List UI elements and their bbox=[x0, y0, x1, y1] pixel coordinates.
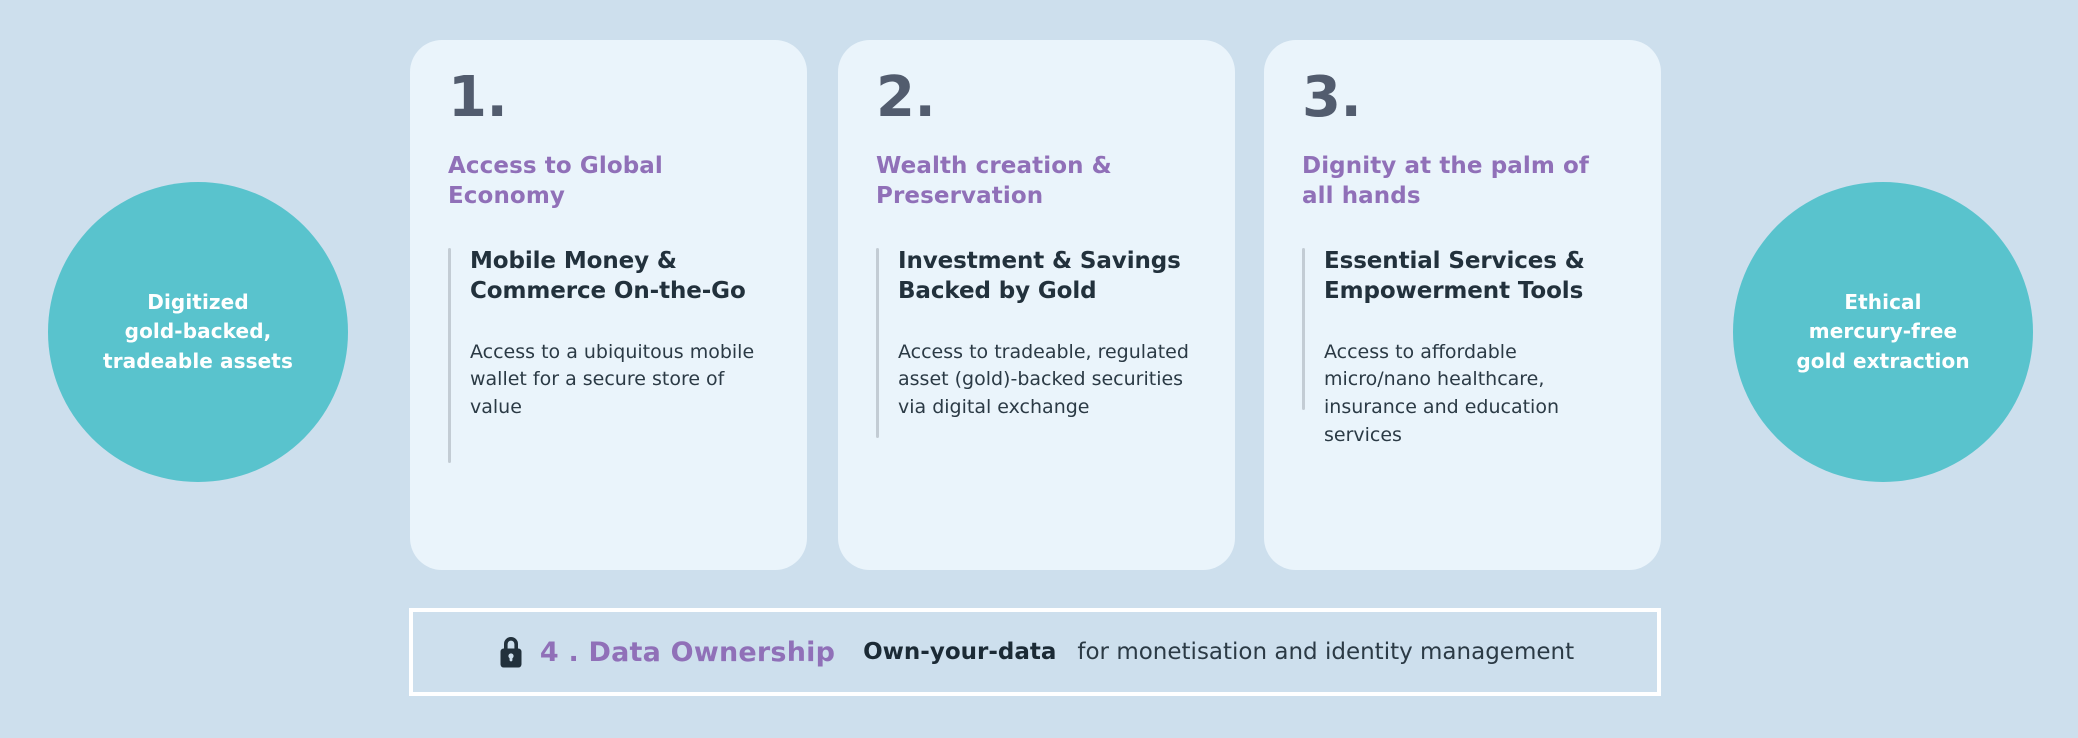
card-3-accent-rule bbox=[1302, 248, 1305, 410]
card-2-accent-rule bbox=[876, 248, 879, 438]
card-1-subtitle: Mobile Money & Commerce On-the-Go bbox=[470, 246, 769, 307]
data-ownership-strong-text: Own-your-data bbox=[863, 639, 1056, 665]
left-circle-text: Digitized gold-backed, tradeable assets bbox=[103, 288, 293, 377]
pillar-card-3: 3. Dignity at the palm of all hands Esse… bbox=[1264, 40, 1661, 570]
card-2-body: Investment & Savings Backed by Gold Acce… bbox=[876, 246, 1197, 422]
data-ownership-bar: 4 . Data Ownership Own-your-data for mon… bbox=[409, 608, 1661, 696]
right-circle-text: Ethical mercury-free gold extraction bbox=[1796, 288, 1969, 377]
left-circle-line-1: Digitized bbox=[103, 288, 293, 318]
card-2-heading: Wealth creation & Preservation bbox=[876, 152, 1197, 212]
data-ownership-rest-text: for monetisation and identity management bbox=[1077, 639, 1574, 665]
right-circle-line-2: mercury-free bbox=[1796, 317, 1969, 347]
pillar-card-1: 1. Access to Global Economy Mobile Money… bbox=[410, 40, 807, 570]
lock-icon bbox=[496, 634, 526, 670]
card-2-description: Access to tradeable, regulated asset (go… bbox=[898, 339, 1197, 422]
data-ownership-number-label: 4 . Data Ownership bbox=[540, 637, 835, 668]
card-2-subtitle: Investment & Savings Backed by Gold bbox=[898, 246, 1197, 307]
card-3-number: 3. bbox=[1302, 70, 1623, 126]
right-summary-circle: Ethical mercury-free gold extraction bbox=[1733, 182, 2033, 482]
card-3-heading: Dignity at the palm of all hands bbox=[1302, 152, 1623, 212]
card-2-number: 2. bbox=[876, 70, 1197, 126]
card-3-subtitle: Essential Services & Empowerment Tools bbox=[1324, 246, 1623, 307]
pillar-card-2: 2. Wealth creation & Preservation Invest… bbox=[838, 40, 1235, 570]
right-circle-line-1: Ethical bbox=[1796, 288, 1969, 318]
card-1-accent-rule bbox=[448, 248, 451, 463]
card-1-description: Access to a ubiquitous mobile wallet for… bbox=[470, 339, 769, 422]
card-1-heading: Access to Global Economy bbox=[448, 152, 769, 212]
right-circle-line-3: gold extraction bbox=[1796, 347, 1969, 377]
card-1-number: 1. bbox=[448, 70, 769, 126]
left-circle-line-3: tradeable assets bbox=[103, 347, 293, 377]
left-summary-circle: Digitized gold-backed, tradeable assets bbox=[48, 182, 348, 482]
card-3-body: Essential Services & Empowerment Tools A… bbox=[1302, 246, 1623, 450]
left-circle-line-2: gold-backed, bbox=[103, 317, 293, 347]
card-3-description: Access to affordable micro/nano healthca… bbox=[1324, 339, 1623, 450]
card-1-body: Mobile Money & Commerce On-the-Go Access… bbox=[448, 246, 769, 422]
